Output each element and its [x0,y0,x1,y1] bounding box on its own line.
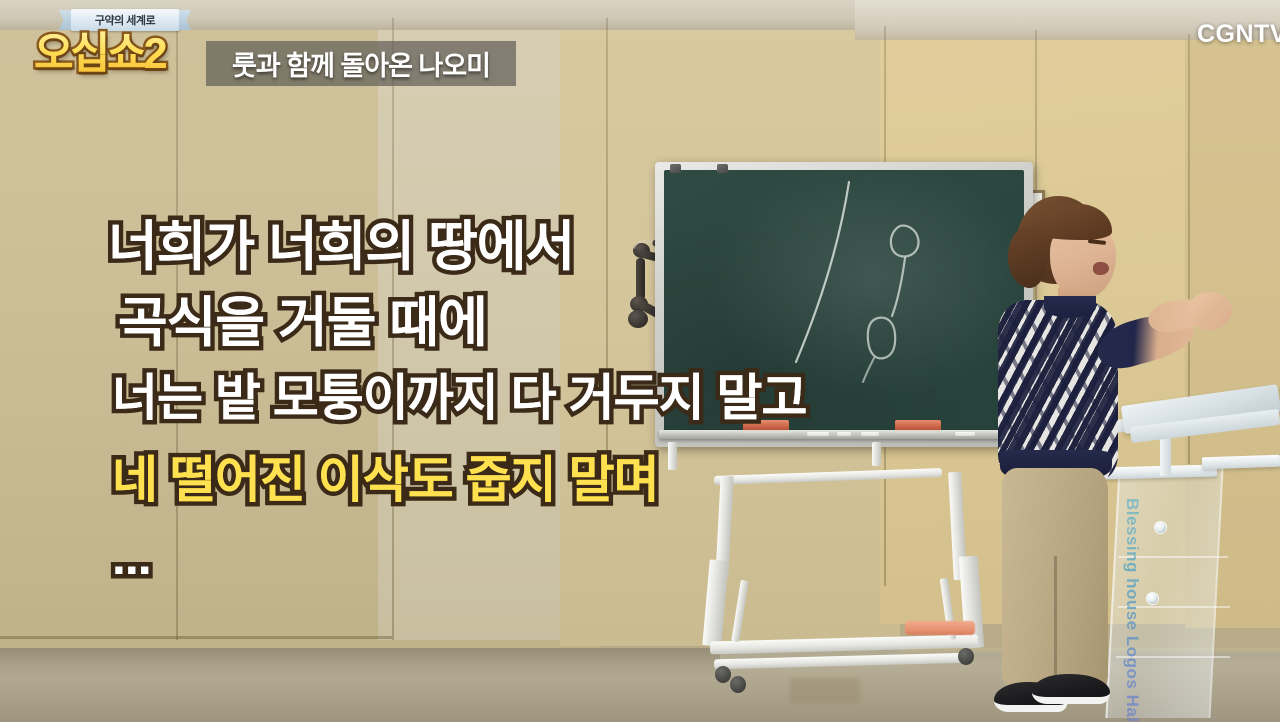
board-corner [670,164,681,173]
board-corner [717,164,728,173]
collar [1044,296,1096,318]
program-logo: 구약의 세계로 오십쇼2 오십쇼2 [28,4,208,90]
chalk [955,432,975,436]
broadcaster-watermark: CGNTV [1197,20,1280,49]
hair-side [1008,226,1048,288]
eraser [895,420,941,433]
episode-subtitle: 룻과 함께 돌아온 나오미 [206,41,516,86]
floor-shadow [0,648,720,678]
chalk [861,432,879,436]
wall-molding [0,636,392,639]
video-frame: Blessing house Logos Hall 구약의 세계로 오십쇼2 오… [0,0,1280,722]
trouser-seam [1054,556,1057,684]
right-shoe [1032,674,1110,704]
chalkboard [655,162,1033,447]
eraser [743,420,789,433]
cloth-on-stand [905,621,975,635]
speaker [980,196,1240,720]
panel-seam [176,16,178,640]
panel-seam [392,18,394,640]
chalkboard-surface [664,170,1024,432]
panel-seam [606,18,608,468]
chalk [837,432,851,436]
chalk [807,432,829,436]
floor-patch [790,678,860,704]
program-title: 오십쇼2 [34,26,209,82]
